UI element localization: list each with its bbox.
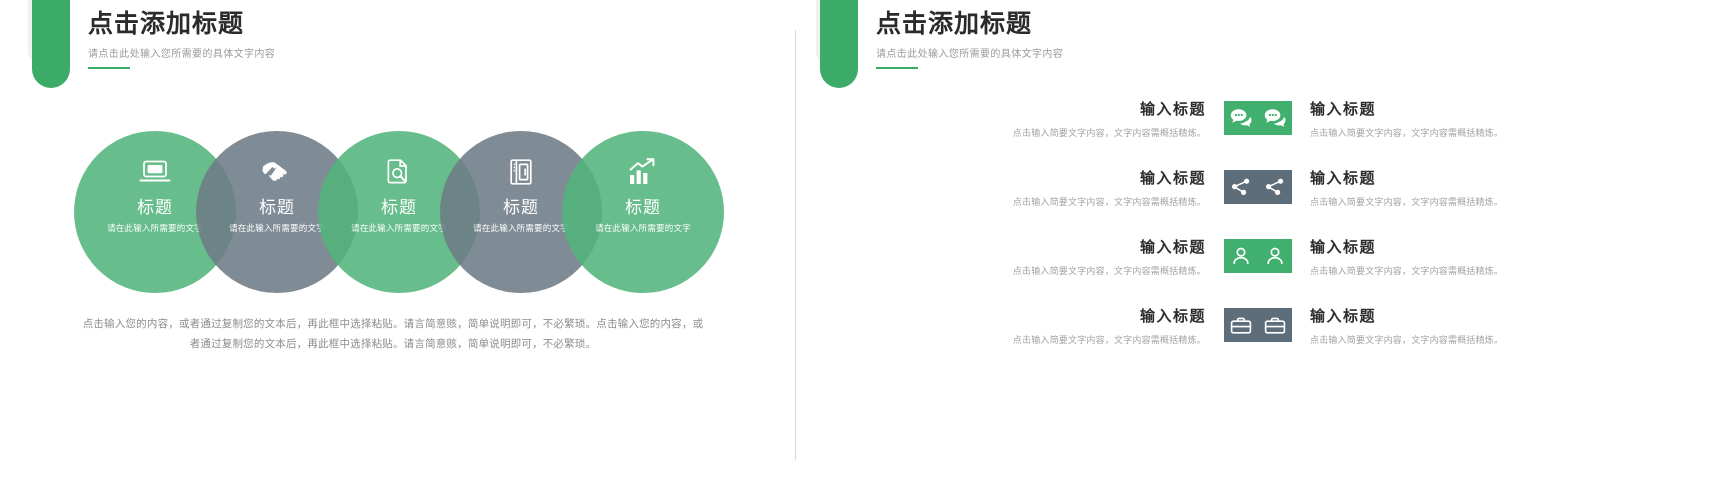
list-item[interactable]: 输入标题 点击输入简要文字内容，文字内容需概括精炼。 [1258,166,1720,208]
list-item[interactable]: 输入标题 点击输入简要文字内容，文字内容需概括精炼。 [796,304,1258,346]
list-item-text: 输入标题 点击输入简要文字内容，文字内容需概括精炼。 [1013,166,1206,208]
list-row: 输入标题 点击输入简要文字内容，文字内容需概括精炼。 [796,166,1720,235]
list-row: 输入标题 点击输入简要文字内容，文字内容需概括精炼。 [796,235,1720,304]
list-item-title: 输入标题 [1310,170,1503,188]
list-item-text: 输入标题 点击输入简要文字内容，文字内容需概括精炼。 [1013,304,1206,346]
list-item-title: 输入标题 [1013,101,1206,119]
feature-list: 输入标题 点击输入简要文字内容，文字内容需概括精炼。 [796,97,1720,373]
list-item-desc: 点击输入简要文字内容，文字内容需概括精炼。 [1013,333,1206,346]
body-paragraph: 点击输入您的内容，或者通过复制您的文本后，再此框中选择粘贴。请言简意赅，简单说明… [80,314,706,355]
file-search-icon [385,157,413,187]
title-underline [88,67,130,69]
list-item-desc: 点击输入简要文字内容，文字内容需概括精炼。 [1013,195,1206,208]
list-item-title: 输入标题 [1310,101,1503,119]
circle-group: 标题 请在此输入所需要的文字 标题 请在此输入所需要的文字 [74,131,724,296]
list-item[interactable]: 输入标题 点击输入简要文字内容，文字内容需概括精炼。 [796,97,1258,139]
title-underline [876,67,918,69]
book-icon [508,157,534,187]
circle-desc: 请在此输入所需要的文字 [107,222,203,235]
laptop-icon [139,157,171,187]
circle-title: 标题 [137,193,173,218]
user-icon[interactable] [1224,239,1258,273]
page-subtitle: 请点击此处输入您所需要的具体文字内容 [876,45,1063,60]
list-item-desc: 点击输入简要文字内容，文字内容需概括精炼。 [1310,264,1503,277]
list-item-desc: 点击输入简要文字内容，文字内容需概括精炼。 [1013,126,1206,139]
list-item-text: 输入标题 点击输入简要文字内容，文字内容需概括精炼。 [1310,97,1503,139]
handshake-icon [261,157,293,187]
page-subtitle: 请点击此处输入您所需要的具体文字内容 [88,45,275,60]
chat-bubbles-icon[interactable] [1224,101,1258,135]
circle-item-5[interactable]: 标题 请在此输入所需要的文字 [562,131,724,293]
user-icon[interactable] [1258,239,1292,273]
circle-desc: 请在此输入所需要的文字 [229,222,325,235]
list-item-desc: 点击输入简要文字内容，文字内容需概括精炼。 [1310,126,1503,139]
slide-right-header-text: 点击添加标题 请点击此处输入您所需要的具体文字内容 [876,10,1063,69]
slide-left-header-text: 点击添加标题 请点击此处输入您所需要的具体文字内容 [88,10,275,69]
list-row: 输入标题 点击输入简要文字内容，文字内容需概括精炼。 [796,304,1720,373]
circle-title: 标题 [259,193,295,218]
list-item-text: 输入标题 点击输入简要文字内容，文字内容需概括精炼。 [1013,97,1206,139]
list-item-text: 输入标题 点击输入简要文字内容，文字内容需概括精炼。 [1013,235,1206,277]
share-nodes-icon[interactable] [1258,170,1292,204]
decor-pill-green [32,0,70,88]
list-item[interactable]: 输入标题 点击输入简要文字内容，文字内容需概括精炼。 [1258,304,1720,346]
briefcase-icon[interactable] [1224,308,1258,342]
circle-desc: 请在此输入所需要的文字 [351,222,447,235]
list-item-title: 输入标题 [1013,170,1206,188]
chart-growth-icon [628,157,658,187]
slide-right: 点击添加标题 请点击此处输入您所需要的具体文字内容 输入标题 点击输入简要文字内… [796,0,1720,490]
circle-desc: 请在此输入所需要的文字 [595,222,691,235]
list-item-title: 输入标题 [1310,308,1503,326]
circle-title: 标题 [503,193,539,218]
chat-bubbles-icon[interactable] [1258,101,1292,135]
page-title: 点击添加标题 [88,10,275,39]
list-row: 输入标题 点击输入简要文字内容，文字内容需概括精炼。 [796,97,1720,166]
circle-title: 标题 [381,193,417,218]
list-item-desc: 点击输入简要文字内容，文字内容需概括精炼。 [1310,195,1503,208]
list-item-title: 输入标题 [1013,308,1206,326]
list-item[interactable]: 输入标题 点击输入简要文字内容，文字内容需概括精炼。 [1258,97,1720,139]
list-item-title: 输入标题 [1310,239,1503,257]
circle-title: 标题 [625,193,661,218]
list-item[interactable]: 输入标题 点击输入简要文字内容，文字内容需概括精炼。 [796,235,1258,277]
list-item-text: 输入标题 点击输入简要文字内容，文字内容需概括精炼。 [1310,235,1503,277]
slide-left: 点击添加标题 请点击此处输入您所需要的具体文字内容 标题 请在此输入所需要的文字 [0,0,795,490]
page-title: 点击添加标题 [876,10,1063,39]
list-item-title: 输入标题 [1013,239,1206,257]
list-item-text: 输入标题 点击输入简要文字内容，文字内容需概括精炼。 [1310,166,1503,208]
slides-container: 点击添加标题 请点击此处输入您所需要的具体文字内容 标题 请在此输入所需要的文字 [0,0,1720,490]
circle-desc: 请在此输入所需要的文字 [473,222,569,235]
share-nodes-icon[interactable] [1224,170,1258,204]
list-item-desc: 点击输入简要文字内容，文字内容需概括精炼。 [1013,264,1206,277]
list-item[interactable]: 输入标题 点击输入简要文字内容，文字内容需概括精炼。 [796,166,1258,208]
list-item-desc: 点击输入简要文字内容，文字内容需概括精炼。 [1310,333,1503,346]
decor-pill-green [820,0,858,88]
list-item[interactable]: 输入标题 点击输入简要文字内容，文字内容需概括精炼。 [1258,235,1720,277]
briefcase-icon[interactable] [1258,308,1292,342]
list-item-text: 输入标题 点击输入简要文字内容，文字内容需概括精炼。 [1310,304,1503,346]
